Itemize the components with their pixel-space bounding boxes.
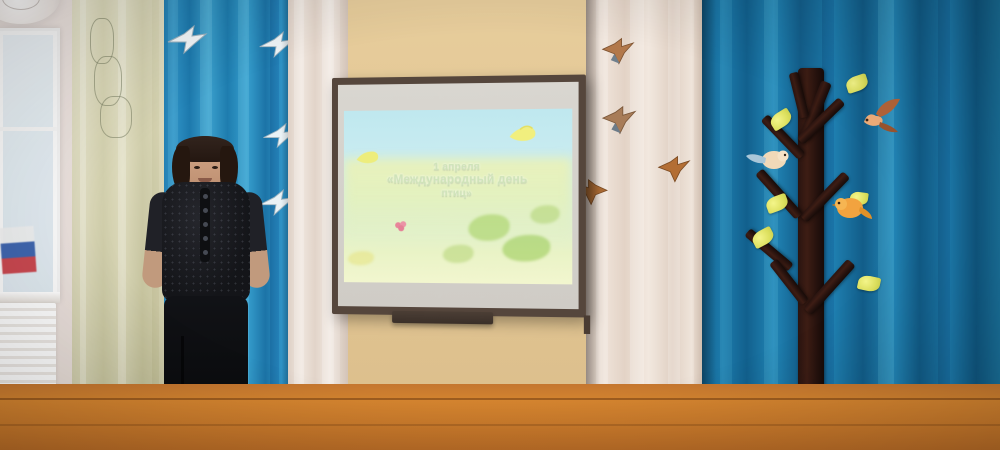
brown-bird-cutout — [600, 36, 636, 68]
tree-leaf — [857, 274, 882, 293]
button — [203, 250, 208, 255]
slide-foliage — [443, 245, 474, 263]
slide-bird-icon — [507, 125, 538, 146]
curtain-tie-cord — [100, 96, 132, 138]
eye-left — [194, 166, 200, 169]
tree-bird-flying — [850, 94, 902, 140]
slide-foliage — [503, 235, 551, 262]
tree-leaf — [764, 193, 790, 215]
window — [0, 28, 60, 302]
eye-right — [212, 166, 218, 169]
white-dove-cutout — [164, 22, 208, 56]
slide-line-3: птиц» — [344, 187, 572, 199]
cream-curtain-right — [586, 0, 706, 412]
tree-bird-perched — [832, 192, 874, 226]
slide-flower-icon — [393, 219, 409, 233]
button — [203, 236, 208, 241]
brown-bird-cutout — [656, 154, 692, 186]
slide-title: 1 апреля «Международный день птиц» — [344, 161, 572, 199]
button — [203, 194, 208, 199]
window-sill — [0, 292, 60, 303]
projected-slide: 1 апреля «Международный день птиц» — [344, 109, 572, 285]
presenter — [140, 136, 268, 426]
slide-foliage — [468, 214, 509, 241]
paper-tree-decoration — [754, 58, 914, 418]
whiteboard-mount — [584, 315, 590, 334]
radiator — [0, 303, 56, 387]
slide-foliage — [348, 251, 374, 265]
button — [203, 222, 208, 227]
interactive-whiteboard[interactable]: 1 апреля «Международный день птиц» — [332, 75, 586, 318]
window-wall — [0, 0, 72, 418]
slide-line-2: «Международный день — [344, 173, 572, 187]
brown-bird-cutout — [600, 104, 638, 138]
tree-bird-blue — [746, 144, 790, 176]
floor — [0, 384, 1000, 450]
russian-flag — [0, 226, 37, 274]
whiteboard-pen-tray[interactable] — [392, 311, 493, 325]
slide-line-1: 1 апреля — [344, 161, 572, 174]
button — [203, 208, 208, 213]
window-mullion — [0, 127, 57, 131]
whiteboard-surface[interactable]: 1 апреля «Международный день птиц» — [338, 82, 579, 309]
ceiling-lamp — [0, 0, 60, 24]
tree-leaf — [844, 73, 870, 94]
classroom-photo: 1 апреля «Международный день птиц» — [0, 0, 1000, 450]
